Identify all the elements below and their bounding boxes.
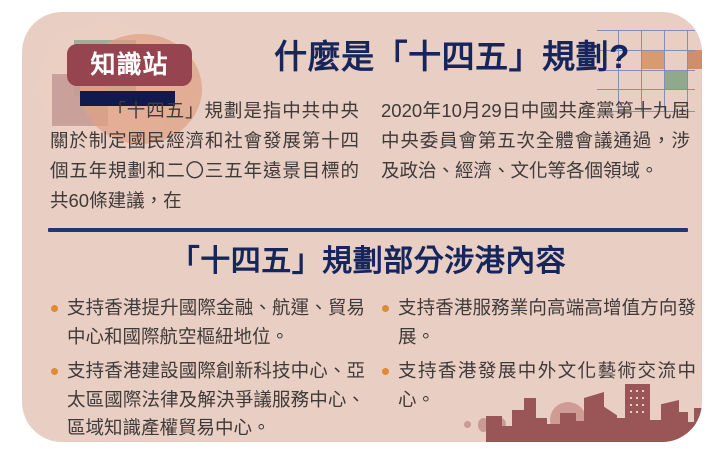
list-item-text: 支持香港建設國際創新科技中心、亞太區國際法律及解決爭議服務中心、區域知識產權貿易… bbox=[67, 360, 365, 439]
grid-line-h1 bbox=[597, 30, 695, 31]
skyline-dot bbox=[464, 421, 471, 428]
bullet-dot-icon bbox=[382, 305, 389, 312]
list-item: 支持香港建設國際創新科技中心、亞太區國際法律及解決爭議服務中心、區域知識產權貿易… bbox=[50, 357, 365, 442]
intro-columns: 「十四五」規劃是指中共中央關於制定國民經濟和社會發展第十四個五年規劃和二〇三五年… bbox=[50, 96, 690, 216]
list-item-text: 支持香港服務業向高端高增值方向發展。 bbox=[398, 297, 696, 347]
infographic-poster: 知識站 什麼是「十四五」規劃? 「十四五」規劃是指中共中央關於制定國民經濟和社會… bbox=[0, 0, 718, 457]
poster-headline: 什麼是「十四五」規劃? bbox=[252, 38, 652, 76]
grid-cell-orange-right bbox=[687, 50, 702, 69]
grid-cell-green bbox=[664, 70, 687, 89]
list-item: 支持香港提升國際金融、航運、貿易中心和國際航空樞紐地位。 bbox=[50, 294, 365, 352]
badge-label: 知識站 bbox=[90, 53, 168, 78]
skyline-building bbox=[603, 406, 617, 442]
skyline-building bbox=[502, 426, 512, 442]
bullet-dot-icon bbox=[51, 368, 58, 375]
list-item-text: 支持香港提升國際金融、航運、貿易中心和國際航空樞紐地位。 bbox=[67, 297, 365, 347]
poster-card: 知識站 什麼是「十四五」規劃? 「十四五」規劃是指中共中央關於制定國民經濟和社會… bbox=[22, 12, 702, 442]
skyline-building bbox=[584, 392, 604, 442]
skyline-building bbox=[617, 418, 625, 442]
skyline-building bbox=[547, 424, 561, 442]
intro-paragraph-right: 2020年10月29日中國共產黨第十九屆中央委員會第五次全體會議通過，涉及政治、… bbox=[381, 96, 690, 216]
bullet-column-left: 支持香港提升國際金融、航運、貿易中心和國際航空樞紐地位。 支持香港建設國際創新科… bbox=[50, 294, 365, 442]
grid-line-h4 bbox=[597, 89, 695, 90]
city-skyline-decoration bbox=[462, 370, 702, 442]
knowledge-station-badge: 知識站 bbox=[67, 44, 192, 86]
intro-paragraph-left: 「十四五」規劃是指中共中央關於制定國民經濟和社會發展第十四個五年規劃和二〇三五年… bbox=[50, 96, 359, 216]
skyline-building bbox=[524, 398, 536, 442]
section-divider bbox=[48, 228, 688, 232]
section-title: 「十四五」規劃部分涉港內容 bbox=[48, 244, 688, 280]
skyline-building bbox=[486, 416, 502, 442]
skyline-building bbox=[694, 408, 702, 442]
bullet-dot-icon bbox=[382, 368, 389, 375]
list-item: 支持香港服務業向高端高增值方向發展。 bbox=[381, 294, 696, 352]
skyline-building bbox=[536, 418, 547, 442]
skyline-building bbox=[650, 420, 662, 442]
skyline-tower bbox=[625, 384, 650, 442]
bullet-dot-icon bbox=[51, 305, 58, 312]
